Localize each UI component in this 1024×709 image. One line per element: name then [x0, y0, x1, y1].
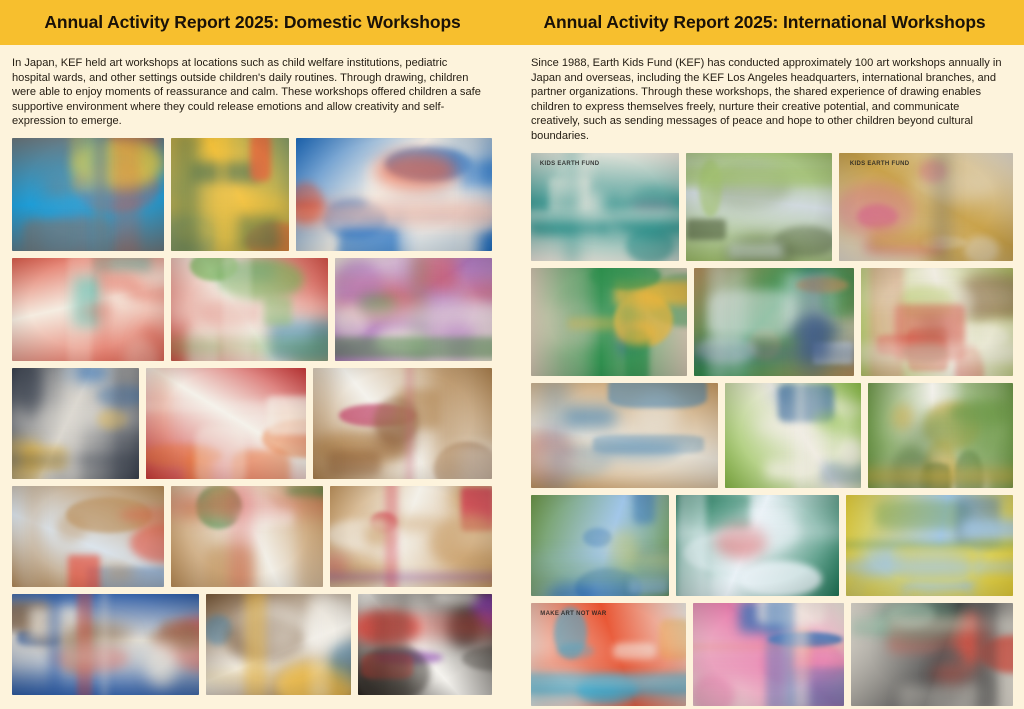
two-children-in-jackets-at-craft-table[interactable]	[12, 594, 199, 695]
panel-international: Since 1988, Earth Kids Fund (KEF) has co…	[519, 45, 1024, 709]
page-title-international: Annual Activity Report 2025: Internation…	[543, 14, 985, 32]
page-title-domestic: Annual Activity Report 2025: Domestic Wo…	[44, 14, 460, 32]
classroom-workshops-row	[531, 268, 1013, 376]
many-children-painting-long-paper-in-hall[interactable]	[330, 486, 492, 587]
photo-vignette	[861, 268, 1013, 376]
adults-and-children-around-craft-table[interactable]	[531, 383, 718, 488]
photo-vignette	[12, 368, 139, 479]
photo-vignette	[358, 594, 492, 695]
group-photo-in-gymnasium-with-long-artwork[interactable]	[12, 486, 164, 587]
finished-blue-and-green-collaborative-painting[interactable]	[676, 495, 839, 596]
children-painting-on-floor-make-art-not-war-hoodie[interactable]: MAKE ART NOT WAR	[531, 603, 686, 706]
la-studio-row: MAKE ART NOT WAR	[531, 603, 1013, 706]
children-artwork-row	[12, 368, 492, 479]
long-table-workshop-with-green-wall[interactable]	[725, 383, 861, 488]
photo-vignette	[171, 138, 289, 251]
children-painting-on-benches-with-yellow-cloth[interactable]	[846, 495, 1014, 596]
tabletop-painting-row	[12, 258, 492, 361]
child-hand-painting-on-checked-tablecloth[interactable]	[12, 258, 164, 361]
header-band: Annual Activity Report 2025: Domestic Wo…	[0, 0, 1024, 45]
girl-drawing-at-round-table-with-pencils[interactable]	[206, 594, 352, 695]
green-house-with-bare-trees-outdoors[interactable]	[686, 153, 832, 261]
photo-vignette	[171, 486, 323, 587]
child-painting-picture-on-red-cloth[interactable]	[146, 368, 305, 479]
photo-vignette	[676, 495, 839, 596]
group-tables-row	[531, 383, 1013, 488]
photo-vignette	[206, 594, 352, 695]
photo-vignette	[171, 258, 328, 361]
workshop-presentation-in-community-hall[interactable]	[694, 268, 853, 376]
photo-vignette	[531, 153, 679, 261]
report-page: Annual Activity Report 2025: Domestic Wo…	[0, 0, 1024, 709]
photo-vignette	[12, 594, 199, 695]
photo-vignette	[335, 258, 492, 361]
outdoor-painting-row	[531, 495, 1013, 596]
photo-vignette	[531, 268, 687, 376]
photo-vignette	[846, 495, 1014, 596]
panel-domestic: In Japan, KEF held art workshops at loca…	[0, 45, 505, 709]
photo-vignette	[694, 268, 853, 376]
photo-vignette	[531, 383, 718, 488]
intro-text-international: Since 1988, Earth Kids Fund (KEF) has co…	[531, 56, 1011, 144]
photo-vignette	[296, 138, 492, 251]
girl-holding-drawing-of-smiling-faces[interactable]	[313, 368, 492, 479]
children-in-caps-painting-on-floor-sheet[interactable]	[12, 368, 139, 479]
paint-palette-and-child-drawing-dots[interactable]	[335, 258, 492, 361]
photo-grid-international: KIDS EARTH FUNDKIDS EARTH FUNDMAKE ART N…	[531, 153, 1013, 706]
children-painting-blue-sky-mural-outdoors[interactable]	[531, 495, 669, 596]
photo-vignette	[313, 368, 492, 479]
photo-vignette	[12, 486, 164, 587]
girl-in-pink-dress-painting-on-floor[interactable]	[693, 603, 845, 706]
outdoor-park-workshop-with-white-shirts[interactable]	[868, 383, 1014, 488]
photo-vignette	[725, 383, 861, 488]
art-supplies-on-red-checked-table[interactable]	[171, 258, 328, 361]
photo-vignette	[839, 153, 1013, 261]
children-painting-large-blue-sheet-overhead[interactable]	[296, 138, 492, 251]
girl-painting-rainbow-on-glass[interactable]	[171, 138, 289, 251]
header-left: Annual Activity Report 2025: Domestic Wo…	[0, 0, 505, 45]
staff-group-seated-under-gold-frame[interactable]: KIDS EARTH FUND	[839, 153, 1013, 261]
panels-container: In Japan, KEF held art workshops at loca…	[0, 45, 1024, 709]
photo-vignette	[12, 258, 164, 361]
indoor-workshop-row	[12, 594, 492, 695]
photo-vignette	[686, 153, 832, 261]
photo-vignette	[531, 495, 669, 596]
photo-vignette	[531, 603, 686, 706]
photo-vignette	[851, 603, 1013, 706]
intro-text-domestic: In Japan, KEF held art workshops at loca…	[12, 56, 482, 129]
child-painting-on-window-blue-fish[interactable]	[12, 138, 164, 251]
header-right: Annual Activity Report 2025: Internation…	[505, 0, 1024, 45]
window-painting-row	[12, 138, 492, 251]
children-drawing-in-classroom-with-green-chairs[interactable]	[531, 268, 687, 376]
photo-vignette	[693, 603, 845, 706]
photo-vignette	[330, 486, 492, 587]
group-hall-row	[12, 486, 492, 587]
photo-vignette	[868, 383, 1014, 488]
panel-gap	[505, 45, 519, 709]
colorful-finished-painting-on-dark-table[interactable]	[358, 594, 492, 695]
gallery-room-with-framed-art-and-children[interactable]	[851, 603, 1013, 706]
photo-vignette	[146, 368, 305, 479]
photo-grid-domestic	[12, 138, 492, 695]
three-children-painting-on-floor-roll[interactable]	[171, 486, 323, 587]
photo-vignette	[12, 138, 164, 251]
children-raising-drawings-in-green-room[interactable]	[861, 268, 1013, 376]
kef-branch-row: KIDS EARTH FUNDKIDS EARTH FUND	[531, 153, 1013, 261]
woman-at-kids-earth-fund-mural-wall[interactable]: KIDS EARTH FUND	[531, 153, 679, 261]
